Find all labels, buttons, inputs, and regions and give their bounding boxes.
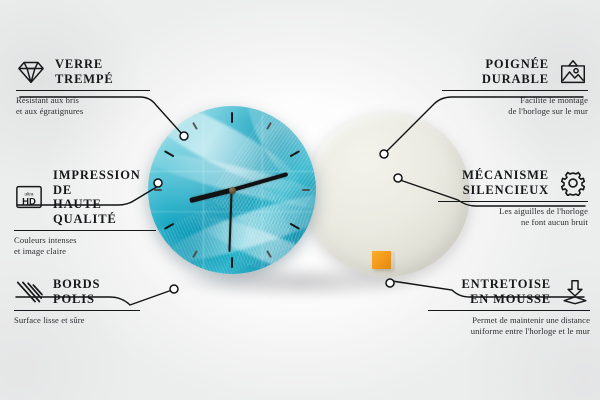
foam-spacer (372, 251, 391, 269)
feature-divider (428, 310, 590, 311)
feature-title: ENTRETOISE EN MOUSSE (461, 277, 551, 306)
front-clock-face (148, 106, 316, 274)
feature-desc-line2: et aux égratignures (16, 106, 156, 116)
svg-text:HD: HD (22, 196, 36, 207)
feature-divider (16, 90, 150, 91)
feature-title: MÉCANISME SILENCIEUX (462, 168, 549, 197)
feature-desc-line2: de l'horloge sur le mur (442, 106, 588, 116)
feature-title: IMPRESSION DE HAUTE QUALITÉ (53, 168, 160, 226)
feature-header: ultra HD IMPRESSION DE HAUTE QUALITÉ (14, 168, 160, 226)
feature-header: ENTRETOISE EN MOUSSE (428, 277, 590, 306)
feature-entretoise-en-mousse[interactable]: ENTRETOISE EN MOUSSE Permet de maintenir… (428, 277, 590, 336)
feature-header: VERRE TREMPÉ (16, 57, 156, 86)
feature-desc-line2: uniforme entre l'horloge et le mur (428, 326, 590, 336)
feature-title: VERRE TREMPÉ (55, 57, 114, 86)
clock-tick-6 (231, 257, 233, 268)
feature-divider (438, 201, 588, 202)
picture-hanger-icon (558, 59, 588, 85)
ultra-hd-icon: ultra HD (14, 184, 44, 210)
feature-title: BORDS POLIS (53, 277, 100, 306)
feature-impression-haute-qualite[interactable]: ultra HD IMPRESSION DE HAUTE QUALITÉ Cou… (14, 168, 160, 256)
feature-poignee-durable[interactable]: POIGNÉE DURABLE Facilite le montage de l… (442, 57, 588, 116)
feature-divider (14, 230, 156, 231)
feature-desc-line1: Surface lisse et sûre (14, 315, 146, 325)
feature-divider (14, 310, 140, 311)
feature-desc-line1: Facilite le montage (442, 95, 588, 105)
feature-desc-line1: Les aiguilles de l'horloge (438, 206, 588, 216)
feature-desc-line1: Permet de maintenir une distance (428, 315, 590, 325)
feature-desc-line1: Couleurs intenses (14, 235, 160, 245)
infographic-stage: VERRE TREMPÉ Résistant aux bris et aux é… (0, 0, 600, 400)
feature-verre-trempe[interactable]: VERRE TREMPÉ Résistant aux bris et aux é… (16, 57, 156, 116)
feature-divider (442, 90, 588, 91)
gear-icon (558, 170, 588, 196)
arrow-down-layers-icon (560, 279, 590, 305)
feature-title: POIGNÉE DURABLE (482, 57, 549, 86)
clock-center-cap (229, 187, 236, 194)
feature-header: BORDS POLIS (14, 277, 146, 306)
feature-desc-line1: Résistant aux bris (16, 95, 156, 105)
feature-desc-line2: ne font aucun bruit (438, 217, 588, 227)
diamond-icon (16, 59, 46, 85)
diagonal-lines-icon (14, 279, 44, 305)
feature-desc-line2: et image claire (14, 246, 160, 256)
clock-tick-3 (302, 189, 310, 191)
feature-header: MÉCANISME SILENCIEUX (438, 168, 588, 197)
feature-header: POIGNÉE DURABLE (442, 57, 588, 86)
clock-tick-12 (231, 112, 233, 123)
feature-mecanisme-silencieux[interactable]: MÉCANISME SILENCIEUX Les aiguilles de l'… (438, 168, 588, 227)
feature-bords-polis[interactable]: BORDS POLIS Surface lisse et sûre (14, 277, 146, 326)
